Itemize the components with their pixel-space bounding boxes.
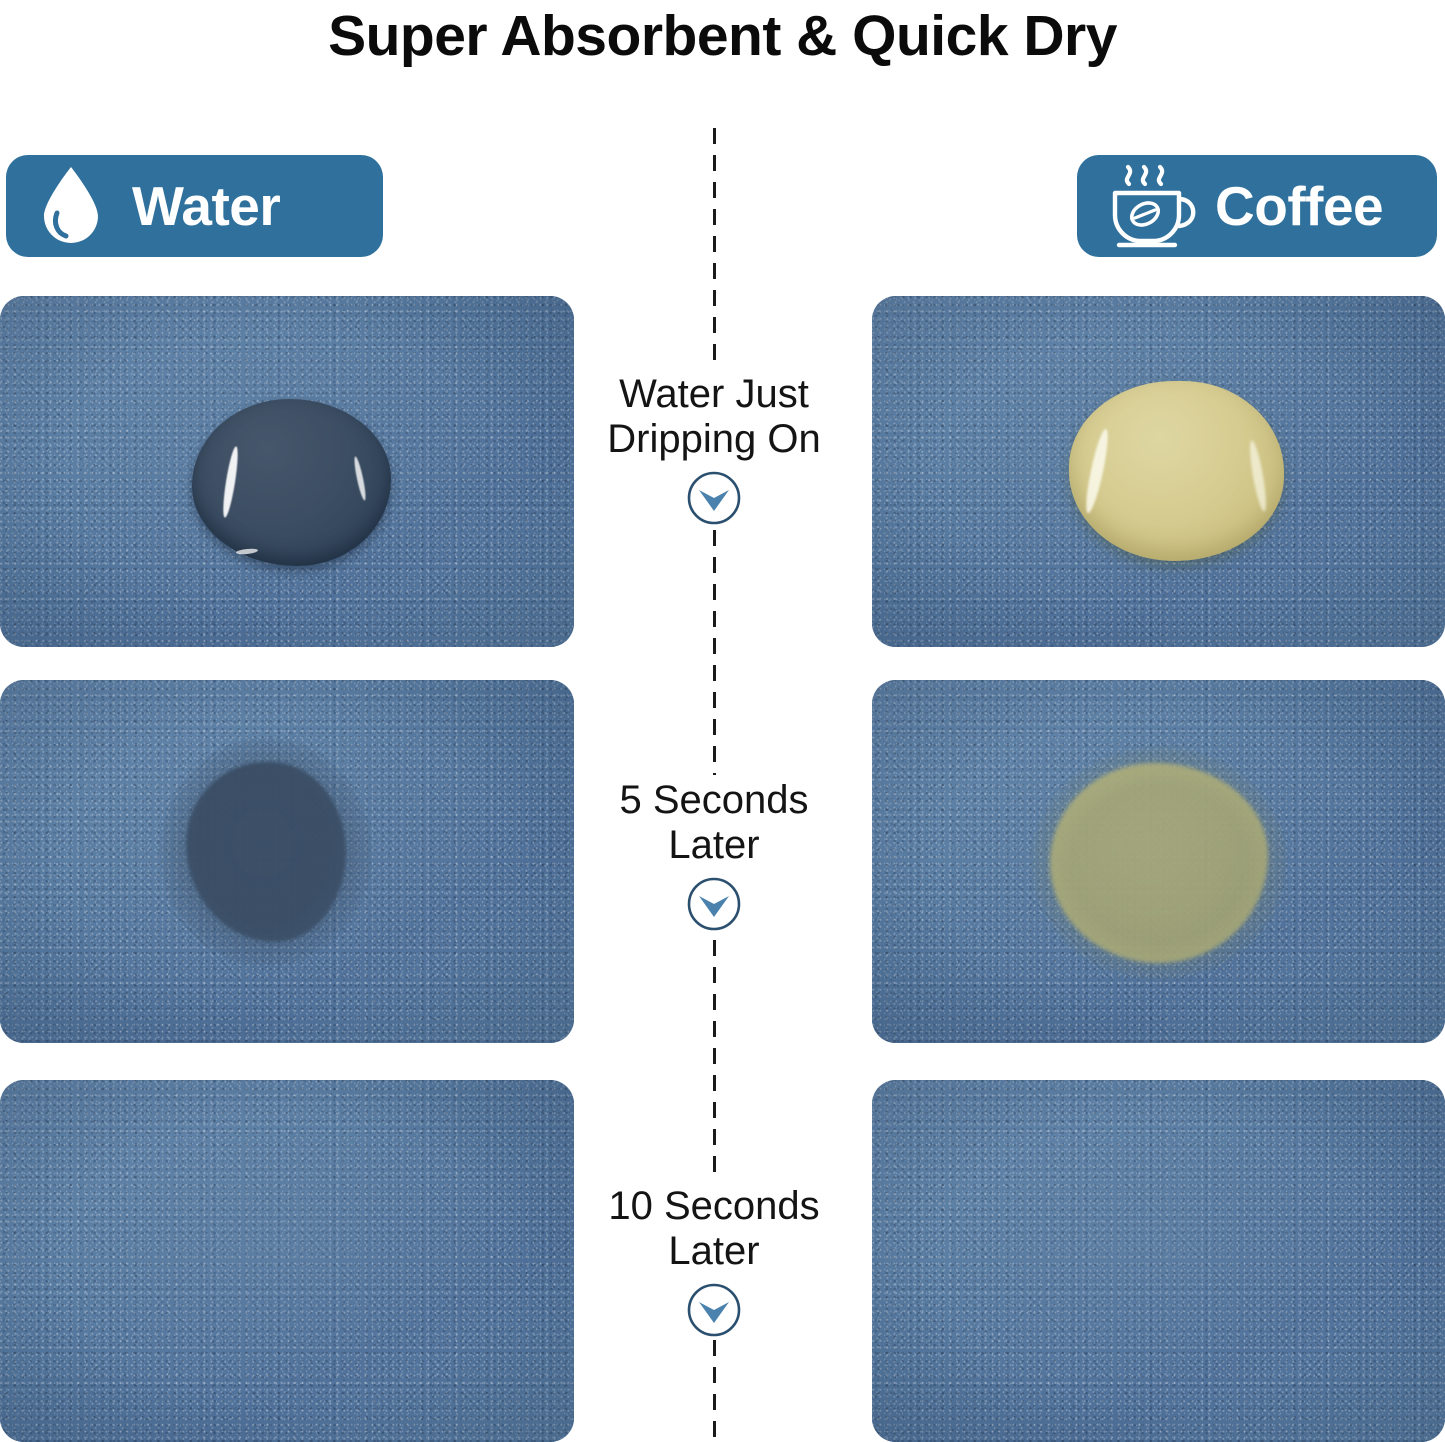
coffee-droplet-fresh (1069, 381, 1284, 561)
droplet-highlight (353, 456, 368, 501)
stage-label-1: Water Just Dripping On (533, 372, 895, 531)
coffee-mat-row-2 (872, 680, 1445, 1043)
water-mat-row-3-dry (0, 1080, 574, 1442)
droplet-highlight (220, 445, 240, 518)
mat-vignette (0, 1080, 574, 1442)
coffee-badge-label: Coffee (1215, 179, 1383, 234)
center-divider-segment (713, 128, 716, 368)
stage-label-1-text: Water Just Dripping On (533, 372, 895, 462)
stage-label-2-text: 5 Seconds Later (533, 778, 895, 868)
coffee-mat-row-1 (872, 296, 1445, 647)
coffee-cup-icon (1107, 160, 1205, 253)
water-mat-row-1 (0, 296, 574, 647)
water-stain-absorbed (186, 762, 346, 942)
water-droplet-fresh (192, 399, 391, 566)
water-badge-label: Water (132, 179, 280, 234)
mat-vignette (872, 1080, 1445, 1442)
water-mat-row-2 (0, 680, 574, 1043)
chevron-down-circle-icon (533, 1282, 895, 1343)
stage-label-3-text: 10 Seconds Later (533, 1184, 895, 1274)
water-drop-icon (40, 165, 102, 248)
water-badge: Water (6, 155, 383, 257)
stain-halo (160, 738, 372, 966)
coffee-badge: Coffee (1077, 155, 1437, 257)
chevron-down-circle-icon (533, 876, 895, 937)
center-divider-segment (713, 1340, 716, 1440)
droplet-highlight (1082, 427, 1112, 514)
stain-halo (1032, 747, 1286, 979)
coffee-mat-row-3-dry (872, 1080, 1445, 1442)
page-title: Super Absorbent & Quick Dry (0, 2, 1445, 70)
coffee-stain-absorbed (1050, 763, 1268, 963)
chevron-down-circle-icon (533, 470, 895, 531)
stage-label-2: 5 Seconds Later (533, 778, 895, 937)
center-divider-segment (713, 530, 716, 775)
stage-label-3: 10 Seconds Later (533, 1184, 895, 1343)
droplet-highlight (1246, 440, 1268, 513)
center-divider-segment (713, 940, 716, 1180)
